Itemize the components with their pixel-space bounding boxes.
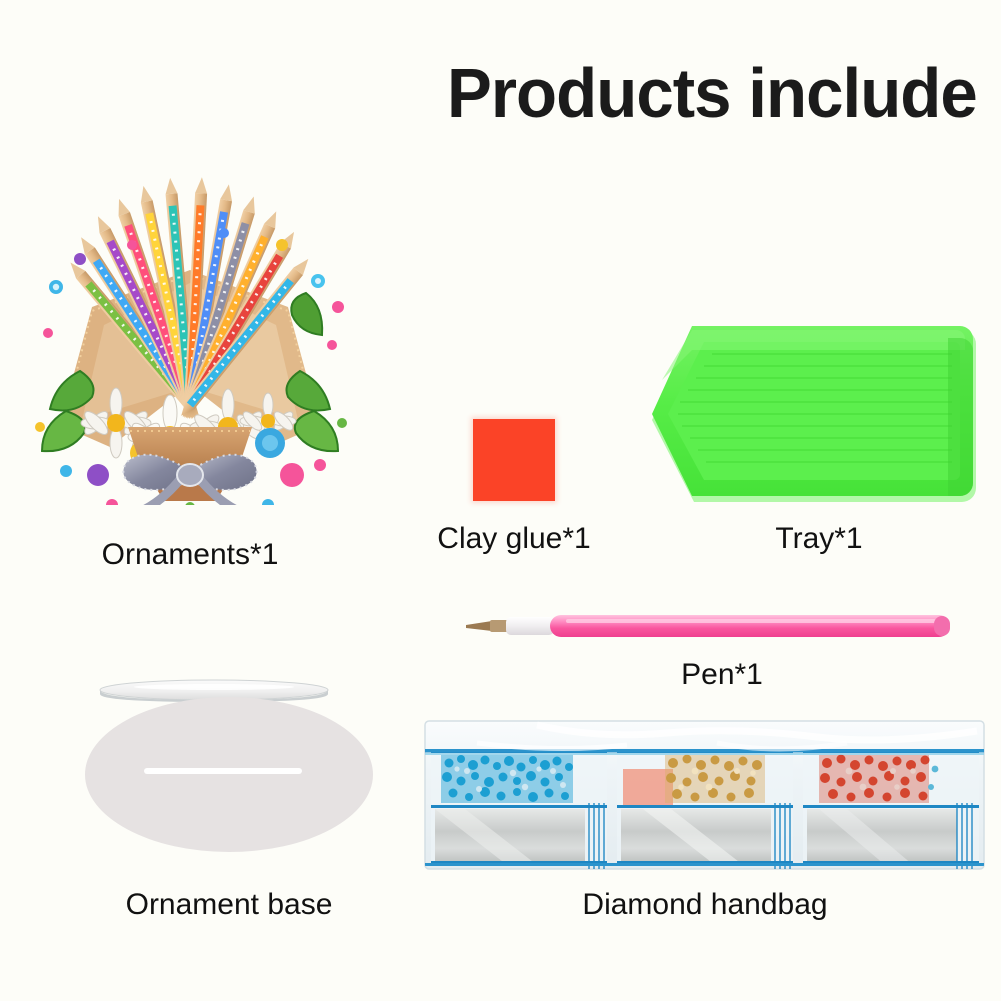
clay-glue-product	[473, 419, 555, 501]
diamond-handbag-label: Diamond handbag	[430, 888, 980, 922]
inner-bag-gold	[617, 749, 793, 869]
inner-bag-blue	[431, 749, 607, 869]
ornament-base-product	[85, 697, 373, 852]
zip-bag-of-rhinestones-icon	[417, 713, 992, 876]
clay-glue-label: Clay glue*1	[394, 522, 634, 556]
pen-label: Pen*1	[582, 658, 862, 692]
diamond-tray-icon	[648, 320, 988, 512]
ornaments-product	[20, 175, 360, 535]
ornament-base-label: Ornament base	[79, 888, 379, 922]
inner-bag-red	[803, 749, 979, 869]
tray-product	[648, 320, 988, 512]
page-title: Products include	[447, 58, 977, 128]
diamond-handbag-product	[417, 713, 992, 876]
pen-product	[462, 606, 962, 646]
ornaments-label: Ornaments*1	[20, 538, 360, 572]
product-include-infographic: Products include	[0, 0, 1001, 1001]
ornament-base-slot	[144, 768, 302, 774]
diamond-pen-icon	[462, 606, 962, 646]
pencil-bouquet-ornament-icon	[20, 175, 360, 505]
tray-label: Tray*1	[654, 522, 984, 556]
